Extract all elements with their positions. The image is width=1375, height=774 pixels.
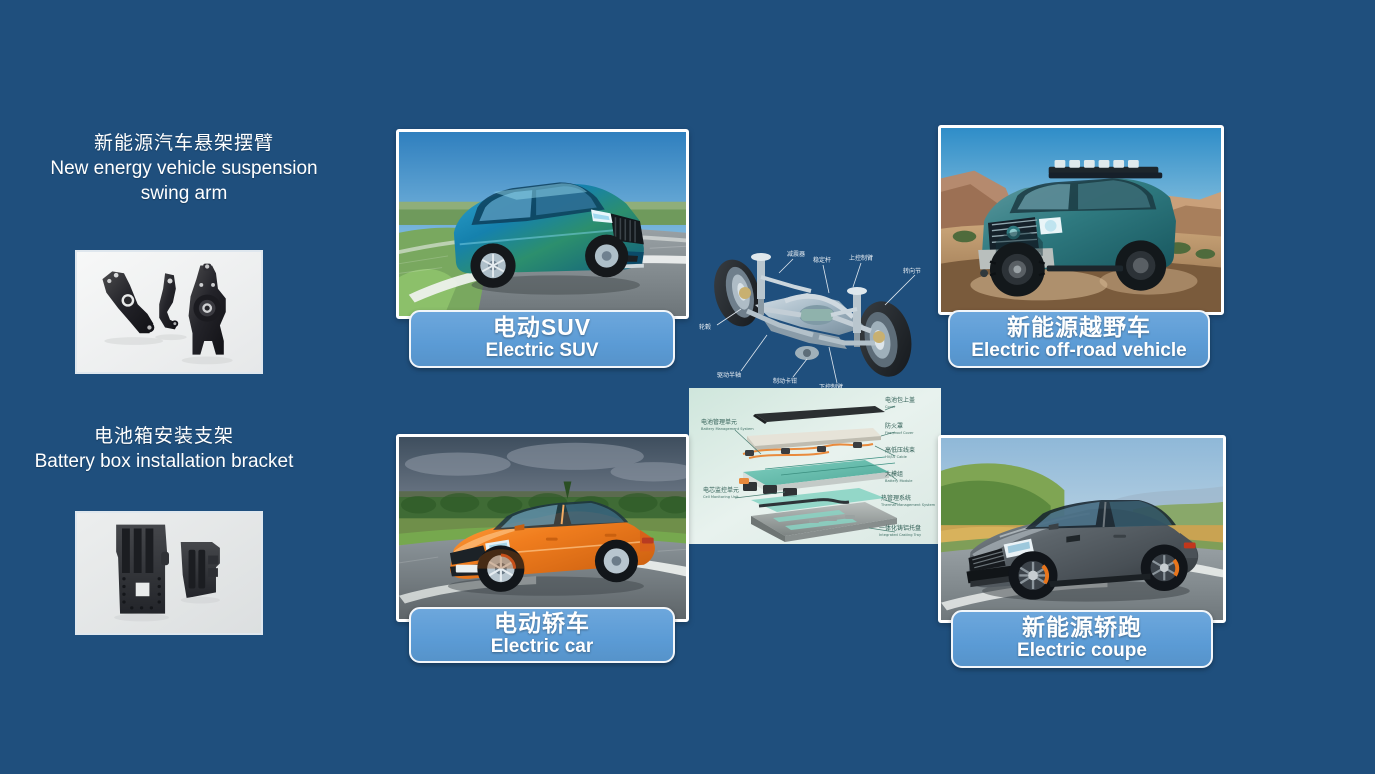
battery-callout-right-1-cn: 防火罩 (885, 422, 903, 430)
battery-bracket-photo-graphic (77, 513, 261, 633)
photo-electric-car (396, 434, 689, 622)
battery-callout-right-3-cn: 大模组 (885, 470, 903, 478)
battery-callout-right-1-en: Fire proof Cover (885, 431, 914, 435)
suspension-callout-0: 减震器 (787, 250, 805, 258)
suspension-callout-3: 转向节 (903, 267, 921, 275)
swing-arm-photo-graphic (77, 252, 261, 372)
battery-callout-right-4-en: Thermal Management System (880, 503, 936, 507)
battery-callout-right-0-en: Cover (885, 405, 896, 409)
caption-electric-suv-cn: 电动SUV (493, 315, 591, 341)
battery-callout-right-5-cn: 一体化铸铝托盘 (879, 524, 921, 532)
photo-electric-coupe (938, 435, 1226, 623)
caption-electric-offroad-en: Electric off-road vehicle (971, 340, 1186, 363)
part-label-swing-arm: 新能源汽车悬架摆臂 New energy vehicle suspension … (24, 131, 344, 206)
electric-coupe-graphic (941, 438, 1223, 620)
caption-electric-offroad-cn: 新能源越野车 (1007, 315, 1151, 341)
battery-callout-right-2-cn: 高低压线束 (885, 446, 915, 454)
battery-callout-right-0-cn: 电池包上盖 (885, 396, 915, 404)
diagram-battery-pack-exploded: 电池包上盖 Cover 防火罩 Fire proof Cover 高低压线束 H… (689, 388, 941, 544)
photo-electric-suv (396, 129, 689, 319)
battery-callout-left-1-en: Cell Monitoring Unit (703, 495, 739, 499)
part-label-battery-bracket: 电池箱安装支架 Battery box installation bracket (4, 424, 324, 474)
battery-callout-right-2-en: HV/LV Cable (885, 455, 908, 459)
battery-callout-right-4-cn: 热管理系统 (881, 494, 911, 502)
suspension-callout-2: 上控制臂 (849, 254, 873, 262)
part-label-swing-arm-cn: 新能源汽车悬架摆臂 (24, 131, 344, 156)
caption-electric-suv[interactable]: 电动SUV Electric SUV (409, 310, 675, 368)
caption-electric-car[interactable]: 电动轿车 Electric car (409, 607, 675, 663)
caption-electric-car-en: Electric car (491, 636, 593, 659)
suspension-diagram-graphic: 减震器 稳定杆 上控制臂 转向节 轮毂 驱动半轴 制动卡钳 下控制臂 (689, 231, 941, 389)
electric-car-graphic (399, 437, 686, 619)
battery-callout-right-3-en: Battery Module (885, 479, 913, 483)
photo-battery-box-bracket (75, 511, 263, 635)
caption-electric-coupe[interactable]: 新能源轿跑 Electric coupe (951, 610, 1213, 668)
photo-suspension-swing-arm (75, 250, 263, 374)
battery-callout-left-1-cn: 电芯监控单元 (703, 486, 739, 494)
battery-callout-left-0-en: Battery Management System (701, 427, 754, 431)
suspension-callout-6: 制动卡钳 (773, 377, 797, 385)
battery-callout-right-5-en: Integrated Casting Tray (879, 533, 922, 537)
part-label-battery-bracket-en: Battery box installation bracket (4, 449, 324, 474)
part-label-battery-bracket-cn: 电池箱安装支架 (4, 424, 324, 449)
suspension-callout-5: 驱动半轴 (717, 371, 741, 379)
caption-electric-car-cn: 电动轿车 (494, 611, 590, 637)
caption-electric-suv-en: Electric SUV (486, 340, 599, 363)
caption-electric-offroad[interactable]: 新能源越野车 Electric off-road vehicle (948, 310, 1210, 368)
photo-electric-offroad: UHID (938, 125, 1224, 315)
battery-diagram-graphic: 电池包上盖 Cover 防火罩 Fire proof Cover 高低压线束 H… (689, 388, 941, 544)
suspension-callout-4: 轮毂 (699, 323, 711, 331)
diagram-suspension-assembly: 减震器 稳定杆 上控制臂 转向节 轮毂 驱动半轴 制动卡钳 下控制臂 (689, 231, 941, 389)
caption-electric-coupe-en: Electric coupe (1017, 640, 1147, 663)
part-label-swing-arm-en: New energy vehicle suspension swing arm (24, 156, 344, 206)
battery-callout-left-0-cn: 电池管理单元 (701, 418, 737, 426)
suspension-callout-1: 稳定杆 (813, 256, 831, 264)
electric-offroad-graphic: UHID (941, 128, 1221, 312)
electric-suv-graphic (399, 132, 686, 316)
caption-electric-coupe-cn: 新能源轿跑 (1022, 615, 1142, 641)
slide-canvas: 新能源汽车悬架摆臂 New energy vehicle suspension … (0, 0, 1375, 774)
